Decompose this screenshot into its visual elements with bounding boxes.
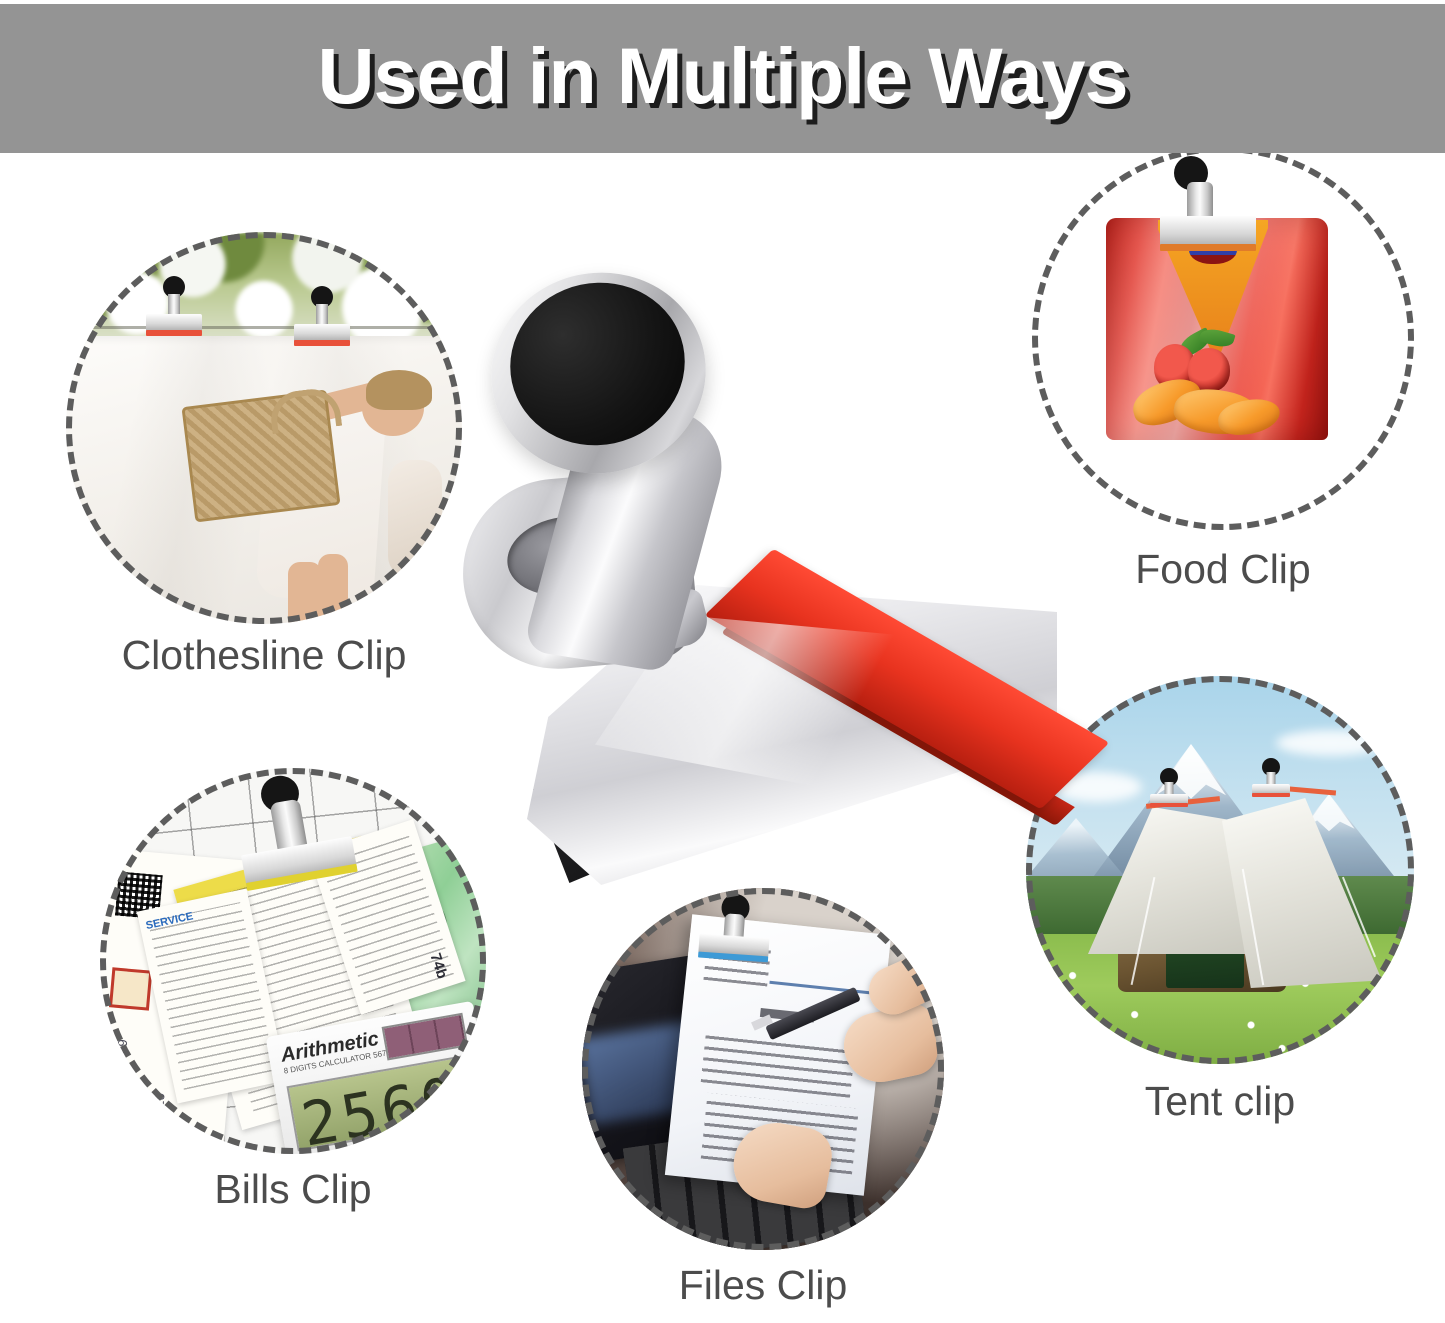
clip-red-lip	[294, 340, 350, 346]
files-photo	[582, 888, 944, 1250]
page-title: Used in Multiple Ways	[0, 30, 1445, 122]
ticket-amount: -0,620	[150, 1092, 168, 1130]
bubble-clothesline	[66, 232, 462, 624]
woman-leg-2	[318, 554, 348, 624]
clothesline-photo	[66, 232, 462, 624]
clip-on-bag	[1160, 156, 1256, 266]
clip-on-bills	[229, 768, 360, 901]
child-figure	[388, 460, 442, 578]
caption-files: Files Clip	[580, 1262, 946, 1309]
bubble-bills: 2016 12 09 -0,620 1000 1,500원 SERVICE 74…	[100, 768, 486, 1154]
caption-tent: Tent clip	[1024, 1078, 1416, 1125]
clip-on-document	[698, 892, 773, 969]
clip-on-tarp-1	[1150, 768, 1188, 810]
woman-leg	[288, 562, 322, 624]
document-body-text-1	[701, 1032, 855, 1097]
calculator-display-value: 2560	[296, 1064, 466, 1154]
caption-clothesline: Clothesline Clip	[64, 632, 464, 679]
solar-panel	[382, 1013, 469, 1061]
red-stamp	[109, 967, 152, 1010]
clip-red-lip	[1252, 793, 1290, 797]
caption-bills: Bills Clip	[98, 1166, 488, 1213]
ticket-date: 2016 12 09	[110, 1039, 131, 1105]
clip-red-lip	[1160, 244, 1256, 251]
clothesline-rope	[66, 326, 462, 329]
clip-red-lip	[146, 330, 202, 336]
header-band: Used in Multiple Ways	[0, 4, 1445, 153]
woman-hair	[366, 370, 432, 410]
bubble-files	[582, 888, 944, 1250]
clip-on-tarp-2	[1252, 758, 1290, 800]
clip-on-line-2	[294, 286, 350, 350]
clip-red-lip	[1150, 803, 1188, 807]
cloud-2	[1276, 730, 1386, 756]
hero-product-clip	[455, 255, 1095, 875]
bills-photo: 2016 12 09 -0,620 1000 1,500원 SERVICE 74…	[100, 768, 486, 1154]
clip-on-line-1	[146, 276, 202, 340]
